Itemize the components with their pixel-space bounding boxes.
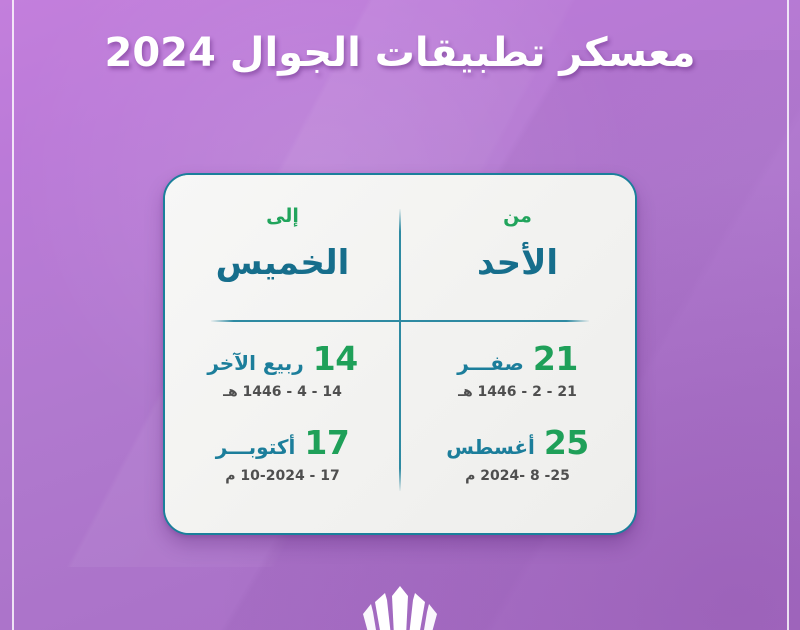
column-from-header: من الأحد — [477, 175, 558, 320]
palm-fan-logo-icon — [345, 580, 455, 630]
column-to-body: 14 ربيع الآخر 14 - 4 - 1446 هـ 17 أكتوبـ… — [207, 320, 357, 533]
right-edge-stripe — [787, 0, 789, 630]
from-gregorian-date: 25 أغسطس 25- 8 -2024 م — [446, 426, 589, 484]
from-hijri-month: صفـــر — [457, 353, 524, 373]
page-title: معسكر تطبيقات الجوال 2024 — [0, 28, 800, 78]
to-hijri-day: 14 — [313, 342, 358, 375]
from-hijri-date: 21 صفـــر 21 - 2 - 1446 هـ — [457, 342, 578, 400]
from-hijri-day: 21 — [533, 342, 578, 375]
to-gregorian-main: 17 أكتوبـــر — [216, 426, 350, 459]
column-from: من الأحد 21 صفـــر 21 - 2 - 1446 هـ — [400, 175, 635, 533]
date-range-card-inner: من الأحد 21 صفـــر 21 - 2 - 1446 هـ — [165, 175, 635, 533]
column-from-day-name: الأحد — [477, 246, 558, 280]
column-from-label: من — [503, 207, 532, 226]
left-edge-stripe — [12, 0, 14, 630]
from-gregorian-month: أغسطس — [446, 437, 535, 457]
poster-canvas: معسكر تطبيقات الجوال 2024 من الأحد 21 — [0, 0, 800, 630]
column-to-label: إلى — [266, 207, 299, 226]
to-hijri-month: ربيع الآخر — [207, 353, 303, 373]
to-hijri-date: 14 ربيع الآخر 14 - 4 - 1446 هـ — [207, 342, 357, 400]
columns-container: من الأحد 21 صفـــر 21 - 2 - 1446 هـ — [165, 175, 635, 533]
column-to-day-name: الخميس — [216, 246, 350, 280]
from-gregorian-main: 25 أغسطس — [446, 426, 589, 459]
to-gregorian-date: 17 أكتوبـــر 17 - 10-2024 م — [216, 426, 350, 484]
to-gregorian-full: 17 - 10-2024 م — [216, 468, 350, 484]
from-hijri-main: 21 صفـــر — [457, 342, 578, 375]
column-from-body: 21 صفـــر 21 - 2 - 1446 هـ 25 أغسطس 25- … — [446, 320, 589, 533]
to-hijri-main: 14 ربيع الآخر — [207, 342, 357, 375]
from-hijri-full: 21 - 2 - 1446 هـ — [457, 384, 578, 400]
from-gregorian-full: 25- 8 -2024 م — [446, 468, 589, 484]
column-to-header: إلى الخميس — [216, 175, 350, 320]
from-gregorian-day: 25 — [544, 426, 589, 459]
to-gregorian-day: 17 — [304, 426, 349, 459]
to-gregorian-month: أكتوبـــر — [216, 437, 296, 457]
date-range-card: من الأحد 21 صفـــر 21 - 2 - 1446 هـ — [163, 173, 637, 535]
to-hijri-full: 14 - 4 - 1446 هـ — [207, 384, 357, 400]
column-to: إلى الخميس 14 ربيع الآخر 14 - 4 - 1446 ه… — [165, 175, 400, 533]
